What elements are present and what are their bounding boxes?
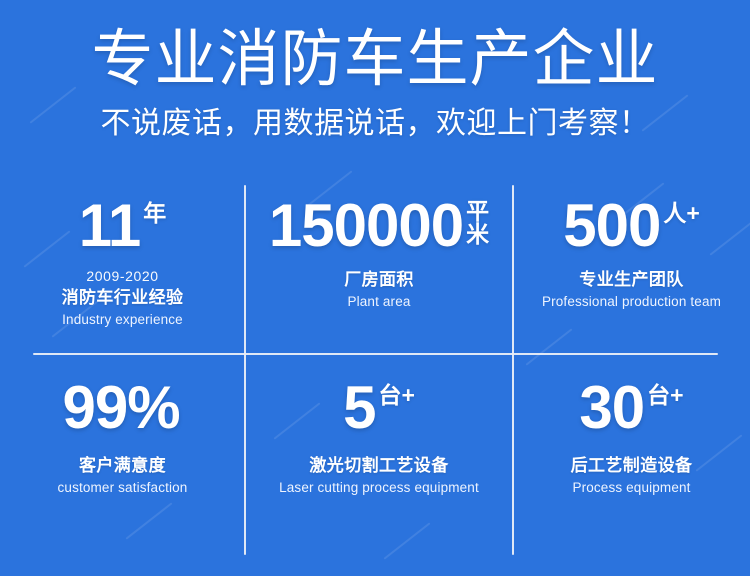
stat-label-en: Plant area [344,293,414,312]
stat-label-cn: 激光切割工艺设备 [279,454,479,479]
stat-cell-laser-cutting-equipment: 5 台+ 激光切割工艺设备 Laser cutting process equi… [245,354,513,566]
banner-header: 专业消防车生产企业 不说废话，用数据说话，欢迎上门考察！ [0,0,750,142]
stat-captions: 客户满意度 customer satisfaction [58,454,188,498]
stat-value-line: 11 年 [79,198,166,254]
stat-value: 30 [579,380,644,436]
stat-value-line: 500 人+ [563,198,700,254]
stats-grid: 11 年 2009-2020 消防车行业经验 Industry experien… [0,176,750,566]
stat-label-en: Professional production team [542,293,721,312]
stat-label-en: customer satisfaction [58,479,188,498]
stat-label-cn: 客户满意度 [58,454,188,479]
promo-banner: 专业消防车生产企业 不说废话，用数据说话，欢迎上门考察！ 11 年 2009-2… [0,0,750,576]
page-subtitle: 不说废话，用数据说话，欢迎上门考察！ [0,106,750,142]
stat-captions: 专业生产团队 Professional production team [542,268,721,312]
stat-value-line: 150000 平 米 [269,198,489,254]
stat-captions: 激光切割工艺设备 Laser cutting process equipment [279,454,479,498]
stat-label-cn: 后工艺制造设备 [571,454,693,479]
stat-label-cn: 专业生产团队 [542,268,721,293]
stat-value: 5 [343,380,375,436]
stat-unit: 平 米 [466,200,489,247]
stat-label-cn: 消防车行业经验 [62,286,184,311]
stat-value: 500 [563,198,660,254]
stat-label-en: Laser cutting process equipment [279,479,479,498]
stat-unit: 台+ [378,384,414,407]
stat-value: 11 [79,198,140,254]
stat-value-line: 5 台+ [343,380,415,436]
stat-value: 99% [62,380,179,436]
stat-cell-customer-satisfaction: 99% 客户满意度 customer satisfaction [0,354,245,566]
divider-vertical-left [244,185,246,555]
stat-cell-production-team: 500 人+ 专业生产团队 Professional production te… [513,176,750,354]
stat-unit: 台+ [647,384,683,407]
stat-unit: 年 [143,202,166,225]
stat-captions: 厂房面积 Plant area [344,268,414,312]
divider-vertical-right [512,185,514,555]
stat-label-en: Process equipment [571,479,693,498]
stat-year-range: 2009-2020 [62,268,184,286]
stat-value-line: 99% [62,380,182,436]
stat-cell-process-equipment: 30 台+ 后工艺制造设备 Process equipment [513,354,750,566]
stat-unit-top: 平 [466,200,489,223]
stat-value: 150000 [269,198,463,254]
stat-label-cn: 厂房面积 [344,268,414,293]
stat-value-line: 30 台+ [579,380,683,436]
stat-label-en: Industry experience [62,311,184,330]
divider-horizontal [33,353,718,355]
stat-captions: 2009-2020 消防车行业经验 Industry experience [62,268,184,329]
stat-cell-plant-area: 150000 平 米 厂房面积 Plant area [245,176,513,354]
stat-captions: 后工艺制造设备 Process equipment [571,454,693,498]
stat-cell-industry-experience: 11 年 2009-2020 消防车行业经验 Industry experien… [0,176,245,354]
stat-unit-bottom: 米 [466,223,489,246]
stat-unit: 人+ [663,202,699,225]
page-title: 专业消防车生产企业 [0,27,750,94]
